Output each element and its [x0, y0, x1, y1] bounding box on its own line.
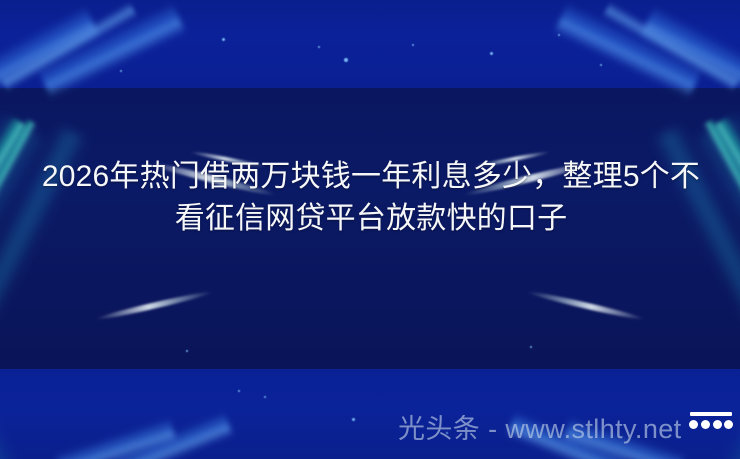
- abacus-badge-icon: [688, 404, 734, 434]
- star-speck: [412, 44, 414, 46]
- badge-dot: [713, 420, 722, 429]
- star-speck: [344, 58, 348, 62]
- star-speck: [222, 38, 225, 41]
- star-speck: [318, 46, 320, 48]
- star-speck: [530, 346, 532, 348]
- poster-canvas: 2026年热门借两万块钱一年利息多少，整理5个不看征信网贷平台放款快的口子 光头…: [0, 0, 740, 459]
- badge-dot: [689, 420, 698, 429]
- star-speck: [264, 396, 266, 398]
- badge-bar: [690, 412, 732, 416]
- badge-dot: [701, 420, 710, 429]
- star-speck: [186, 350, 188, 352]
- star-speck: [558, 34, 560, 36]
- star-speck: [490, 52, 493, 55]
- site-watermark: 光头条 - www.stlhty.net: [398, 412, 682, 446]
- badge-dot: [724, 420, 733, 429]
- star-speck: [238, 390, 240, 392]
- background-band-top: [0, 0, 740, 88]
- star-speck: [352, 418, 355, 421]
- poster-headline: 2026年热门借两万块钱一年利息多少，整理5个不看征信网贷平台放款快的口子: [40, 156, 702, 240]
- star-speck: [120, 70, 122, 72]
- star-speck: [600, 64, 602, 66]
